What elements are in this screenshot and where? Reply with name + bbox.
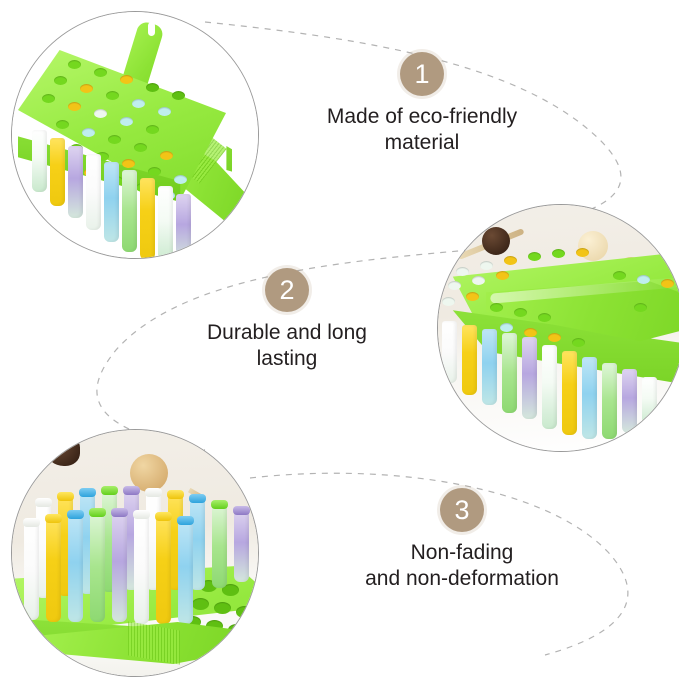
tube-cap [101,486,118,495]
rack-hole [576,248,589,257]
rack-hole [514,308,527,317]
feature-text-1: Made of eco-friendly material [287,104,557,155]
test-tube [134,514,149,624]
tube-cap [79,488,96,497]
rack-hole [528,252,541,261]
test-tube [582,357,597,439]
test-tube [68,514,83,622]
rack-hole [504,256,517,265]
rack-hole [82,128,95,137]
test-tube [46,518,61,622]
test-tube [178,520,193,624]
rack-hole [80,84,93,93]
rack-hole [472,276,485,285]
photo-3-scene [12,430,258,676]
rack-hole [106,91,119,100]
rack-hole [236,606,253,618]
rack-hole [42,94,55,103]
feature-callout-1: 1 Made of eco-friendly material [287,52,557,155]
test-tube [176,194,191,259]
test-tube [522,337,537,419]
tube-cap [23,518,40,527]
test-tube [482,329,497,405]
test-tube [32,130,47,192]
test-tube [622,369,637,433]
rack-hole [94,68,107,77]
tube-cap [111,508,128,517]
rack-hole [466,292,479,301]
rack-hole [524,328,537,337]
test-tube [122,170,137,252]
rack-hole [120,75,133,84]
tube-cap [155,512,172,521]
scoop-notch [148,22,155,36]
feature-badge-3: 3 [440,488,484,532]
tube-cap [189,494,206,503]
rack-hole [160,151,173,160]
feature-callout-3: 3 Non-fading and non-deformation [317,488,607,591]
product-photo-3 [11,429,259,677]
rack-hole [56,120,69,129]
test-tube [90,512,105,622]
test-tube [68,146,83,218]
test-tube [104,162,119,242]
feature-text-2: Durable and long lasting [152,320,422,371]
test-tube [158,186,173,259]
rack-hole [448,281,461,290]
tube-cap [67,510,84,519]
rack-hole [637,275,650,284]
test-tube [24,522,39,620]
test-tube [86,154,101,230]
rack-hole [134,143,147,152]
rack-hole [548,333,561,342]
test-tube [602,363,617,439]
tube-cap [177,516,194,525]
test-tube [112,512,127,622]
rack-hole [148,167,161,176]
prop-dark-ball [46,436,80,466]
feature-badge-2: 2 [265,268,309,312]
rack-hole [480,261,493,270]
rack-hole [146,83,159,92]
photo-2-scene [438,205,679,451]
tube-cap [233,506,250,515]
rack-hole [146,125,159,134]
rack-hole [108,135,121,144]
test-tube [542,345,557,429]
rack-hole [158,107,171,116]
rack-hole [174,175,187,184]
test-tube [50,138,65,206]
feature-text-3: Non-fading and non-deformation [317,540,607,591]
photo-1-scene [12,12,258,258]
test-tube [442,321,457,383]
test-tube [462,325,477,395]
tube-cap [89,508,106,517]
rack-hole [172,91,185,100]
rack-hole [54,76,67,85]
tube-cap [167,490,184,499]
product-photo-1 [11,11,259,259]
test-tube [502,333,517,413]
rack-hole [538,313,551,322]
rack-hole [68,60,81,69]
tube-cap [35,498,52,507]
test-tube [156,516,171,624]
rack-hole [442,297,455,306]
prop-dark-ball [482,227,510,255]
rack-hole [132,99,145,108]
rack-hole [613,271,626,280]
test-tube [140,178,155,259]
tube-cap [133,510,150,519]
rack-hole [490,303,503,312]
tube-cap [45,514,62,523]
tube-cap [123,486,140,495]
feature-callout-2: 2 Durable and long lasting [152,268,422,371]
rack-hole [94,109,107,118]
test-tube [562,351,577,435]
rack-hole [496,271,509,280]
test-tube [642,377,657,425]
feature-badge-1: 1 [400,52,444,96]
tube-cap [145,488,162,497]
tube-cap [57,492,74,501]
product-photo-2 [437,204,679,452]
tube-cap [211,500,228,509]
rack-hole [122,159,135,168]
rack-hole [192,598,209,610]
rack-hole [214,602,231,614]
rack-hole [572,338,585,347]
test-tube [212,504,227,588]
rack-hole [120,117,133,126]
rack-hole [500,323,513,332]
rack-hole [456,267,469,276]
rack-hole [634,303,647,312]
test-tube [234,510,249,582]
rack-hole [68,102,81,111]
rack-hole [661,279,674,288]
product-feature-infographic: 1 Made of eco-friendly material 2 Durabl… [0,0,679,679]
rack-hole [552,249,565,258]
